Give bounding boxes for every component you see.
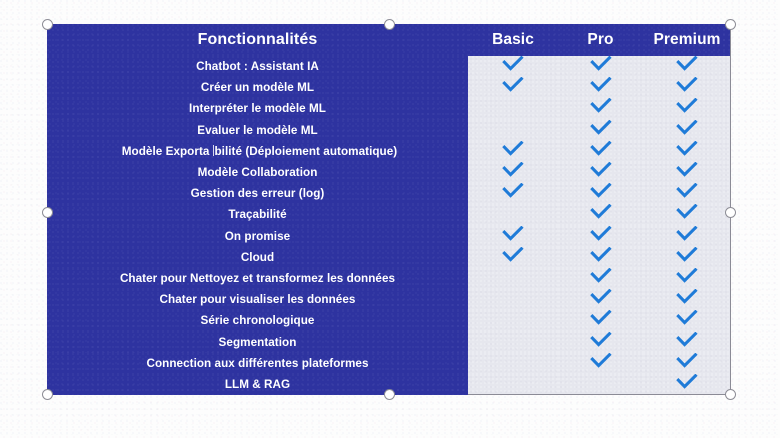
- table-row[interactable]: Cloud: [47, 247, 731, 268]
- basic-cell[interactable]: [468, 183, 558, 204]
- feature-label: Evaluer le modèle ML: [193, 124, 322, 137]
- basic-cell[interactable]: [468, 268, 558, 289]
- feature-cell[interactable]: Segmentation: [47, 331, 468, 352]
- basic-cell[interactable]: [468, 56, 558, 77]
- handle-top-left[interactable]: [42, 19, 53, 30]
- feature-cell[interactable]: LLM & RAG: [47, 374, 468, 395]
- feature-label: Segmentation: [215, 336, 301, 349]
- basic-cell[interactable]: [468, 310, 558, 331]
- premium-cell[interactable]: [643, 98, 731, 119]
- basic-cell[interactable]: [468, 120, 558, 141]
- check-icon: [590, 120, 612, 136]
- table-row[interactable]: Série chronologique: [47, 310, 731, 331]
- check-icon: [676, 374, 698, 390]
- feature-cell[interactable]: Gestion des erreur (log): [47, 183, 468, 204]
- pro-cell[interactable]: [558, 162, 643, 183]
- pro-cell[interactable]: [558, 374, 643, 395]
- check-icon: [590, 226, 612, 242]
- header-basic[interactable]: Basic: [468, 24, 558, 56]
- header-feature[interactable]: Fonctionnalités: [47, 24, 468, 56]
- feature-label: LLM & RAG: [221, 378, 294, 391]
- feature-cell[interactable]: Connection aux différentes plateformes: [47, 353, 468, 374]
- check-icon: [590, 56, 612, 72]
- feature-label: On promise: [221, 230, 294, 243]
- check-icon: [676, 98, 698, 114]
- check-icon: [590, 141, 612, 157]
- premium-cell[interactable]: [643, 141, 731, 162]
- check-icon: [676, 77, 698, 93]
- premium-cell[interactable]: [643, 310, 731, 331]
- feature-cell[interactable]: Chater pour visualiser les données: [47, 289, 468, 310]
- check-icon: [676, 332, 698, 348]
- feature-label: Chatbot : Assistant IA: [192, 60, 323, 73]
- handle-bottom-center[interactable]: [384, 389, 395, 400]
- feature-label: Créer un modèle ML: [197, 81, 318, 94]
- pro-cell[interactable]: [558, 226, 643, 247]
- check-icon: [590, 353, 612, 369]
- feature-cell[interactable]: Cloud: [47, 247, 468, 268]
- table-row[interactable]: Modèle Collaboration: [47, 162, 731, 183]
- check-icon: [502, 183, 524, 199]
- check-icon: [502, 141, 524, 157]
- premium-cell[interactable]: [643, 204, 731, 225]
- basic-cell[interactable]: [468, 98, 558, 119]
- feature-cell[interactable]: Traçabilité: [47, 204, 468, 225]
- basic-cell[interactable]: [468, 247, 558, 268]
- feature-label: Cloud: [237, 251, 278, 264]
- feature-label: Modèle Exporta: [118, 145, 214, 158]
- pro-cell[interactable]: [558, 289, 643, 310]
- check-icon: [502, 247, 524, 263]
- pro-cell[interactable]: [558, 98, 643, 119]
- table-body: Chatbot : Assistant IACréer un modèle ML…: [47, 56, 731, 395]
- table-row[interactable]: Chater pour visualiser les données: [47, 289, 731, 310]
- premium-cell[interactable]: [643, 353, 731, 374]
- feature-label: Gestion des erreur (log): [187, 187, 329, 200]
- check-icon: [676, 268, 698, 284]
- table-row[interactable]: Créer un modèle ML: [47, 77, 731, 98]
- header-pro[interactable]: Pro: [558, 24, 643, 56]
- check-icon: [676, 141, 698, 157]
- handle-bottom-left[interactable]: [42, 389, 53, 400]
- premium-cell[interactable]: [643, 226, 731, 247]
- table-row[interactable]: Connection aux différentes plateformes: [47, 353, 731, 374]
- feature-comparison-table[interactable]: Fonctionnalités Basic Pro Premium Chatbo…: [47, 24, 731, 395]
- table-row[interactable]: Modèle Exportabilité (Déploiement automa…: [47, 141, 731, 162]
- feature-label: Traçabilité: [224, 208, 290, 221]
- basic-cell[interactable]: [468, 162, 558, 183]
- premium-cell[interactable]: [643, 289, 731, 310]
- table-row[interactable]: Interpréter le modèle ML: [47, 98, 731, 119]
- feature-cell[interactable]: Modèle Collaboration: [47, 162, 468, 183]
- premium-cell[interactable]: [643, 183, 731, 204]
- check-icon: [590, 98, 612, 114]
- premium-cell[interactable]: [643, 56, 731, 77]
- feature-label: Chater pour Nettoyez et transformez les …: [116, 272, 399, 285]
- feature-label: Série chronologique: [197, 314, 319, 327]
- basic-cell[interactable]: [468, 374, 558, 395]
- table-bottom-border: [468, 394, 731, 395]
- feature-label: Connection aux différentes plateformes: [142, 357, 372, 370]
- check-icon: [676, 310, 698, 326]
- basic-cell[interactable]: [468, 77, 558, 98]
- pro-cell[interactable]: [558, 183, 643, 204]
- premium-cell[interactable]: [643, 247, 731, 268]
- table-row[interactable]: On promise: [47, 226, 731, 247]
- check-icon: [502, 162, 524, 178]
- check-icon: [676, 353, 698, 369]
- pro-cell[interactable]: [558, 331, 643, 352]
- table-row[interactable]: Gestion des erreur (log): [47, 183, 731, 204]
- feature-label-rest: bilité (Déploiement automatique): [214, 145, 397, 158]
- pro-cell[interactable]: [558, 204, 643, 225]
- feature-cell[interactable]: Chater pour Nettoyez et transformez les …: [47, 268, 468, 289]
- check-icon: [502, 77, 524, 93]
- premium-cell[interactable]: [643, 268, 731, 289]
- pro-cell[interactable]: [558, 141, 643, 162]
- feature-cell[interactable]: Chatbot : Assistant IA: [47, 56, 468, 77]
- handle-bottom-right[interactable]: [725, 389, 736, 400]
- check-icon: [676, 289, 698, 305]
- check-icon: [590, 247, 612, 263]
- pro-cell[interactable]: [558, 353, 643, 374]
- pro-cell[interactable]: [558, 268, 643, 289]
- check-icon: [590, 204, 612, 220]
- table-row[interactable]: Chater pour Nettoyez et transformez les …: [47, 268, 731, 289]
- feature-label: Interpréter le modèle ML: [185, 102, 330, 115]
- check-icon: [590, 183, 612, 199]
- handle-top-right[interactable]: [725, 19, 736, 30]
- check-icon: [676, 226, 698, 242]
- feature-cell[interactable]: Créer un modèle ML: [47, 77, 468, 98]
- premium-cell[interactable]: [643, 77, 731, 98]
- check-icon: [590, 332, 612, 348]
- table-row[interactable]: Segmentation: [47, 331, 731, 352]
- feature-cell[interactable]: Série chronologique: [47, 310, 468, 331]
- feature-cell[interactable]: Evaluer le modèle ML: [47, 120, 468, 141]
- check-icon: [590, 268, 612, 284]
- pro-cell[interactable]: [558, 77, 643, 98]
- check-icon: [676, 56, 698, 72]
- check-icon: [676, 247, 698, 263]
- feature-cell[interactable]: Interpréter le modèle ML: [47, 98, 468, 119]
- handle-top-center[interactable]: [384, 19, 395, 30]
- basic-cell[interactable]: [468, 353, 558, 374]
- premium-cell[interactable]: [643, 120, 731, 141]
- check-icon: [502, 226, 524, 242]
- header-premium[interactable]: Premium: [643, 24, 731, 56]
- check-icon: [676, 120, 698, 136]
- table-row[interactable]: Evaluer le modèle ML: [47, 120, 731, 141]
- check-icon: [676, 162, 698, 178]
- premium-cell[interactable]: [643, 374, 731, 395]
- basic-cell[interactable]: [468, 331, 558, 352]
- pro-cell[interactable]: [558, 247, 643, 268]
- basic-cell[interactable]: [468, 141, 558, 162]
- check-icon: [676, 204, 698, 220]
- pro-cell[interactable]: [558, 120, 643, 141]
- basic-cell[interactable]: [468, 289, 558, 310]
- feature-label: Chater pour visualiser les données: [156, 293, 360, 306]
- basic-cell[interactable]: [468, 204, 558, 225]
- check-icon: [590, 289, 612, 305]
- check-icon: [676, 183, 698, 199]
- handle-middle-right[interactable]: [725, 207, 736, 218]
- pro-cell[interactable]: [558, 56, 643, 77]
- feature-cell[interactable]: On promise: [47, 226, 468, 247]
- slide-canvas: Fonctionnalités Basic Pro Premium Chatbo…: [0, 0, 780, 438]
- premium-cell[interactable]: [643, 162, 731, 183]
- table-row[interactable]: Traçabilité: [47, 204, 731, 225]
- check-icon: [590, 77, 612, 93]
- premium-cell[interactable]: [643, 331, 731, 352]
- pro-cell[interactable]: [558, 310, 643, 331]
- comparison-table-container[interactable]: Fonctionnalités Basic Pro Premium Chatbo…: [47, 24, 731, 395]
- check-icon: [590, 310, 612, 326]
- feature-cell[interactable]: Modèle Exportabilité (Déploiement automa…: [47, 141, 468, 162]
- basic-cell[interactable]: [468, 226, 558, 247]
- table-row[interactable]: Chatbot : Assistant IA: [47, 56, 731, 77]
- handle-middle-left[interactable]: [42, 207, 53, 218]
- check-icon: [502, 56, 524, 72]
- feature-label: Modèle Collaboration: [194, 166, 322, 179]
- check-icon: [590, 162, 612, 178]
